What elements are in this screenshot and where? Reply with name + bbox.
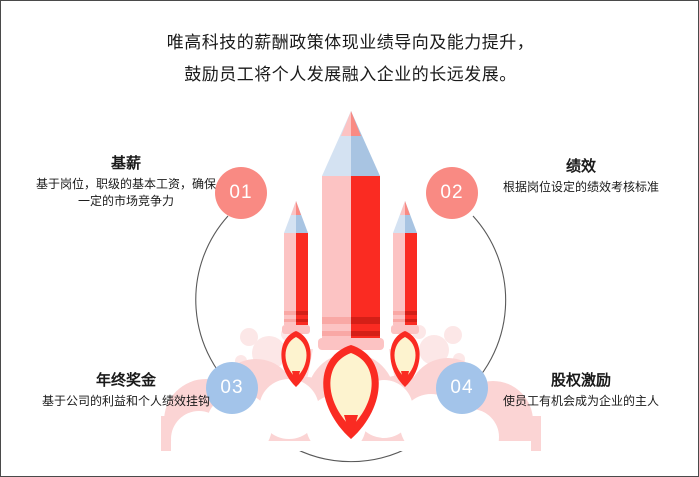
node-number-01: 01 <box>229 182 252 204</box>
label-description-01: 基于岗位，职级的基本工资，确保一定的市场竞争力 <box>31 176 221 210</box>
label-block-01: 基薪 基于岗位，职级的基本工资，确保一定的市场竞争力 <box>31 153 221 210</box>
node-number-02: 02 <box>440 182 463 204</box>
rocket-center <box>318 111 384 439</box>
label-description-02: 根据岗位设定的绩效考核标准 <box>486 179 676 196</box>
label-heading-03: 年终奖金 <box>31 370 221 392</box>
infographic-slide: 唯高科技的薪酬政策体现业绩导向及能力提升， 鼓励员工将个人发展融入企业的长远发展… <box>0 0 699 477</box>
node-circle-01[interactable]: 01 <box>215 167 267 219</box>
label-description-03: 基于公司的利益和个人绩效挂钩 <box>31 393 221 410</box>
label-block-04: 股权激励 使员工有机会成为企业的主人 <box>486 370 676 410</box>
label-heading-04: 股权激励 <box>486 370 676 392</box>
label-heading-01: 基薪 <box>31 153 221 175</box>
label-block-03: 年终奖金 基于公司的利益和个人绩效挂钩 <box>31 370 221 410</box>
label-description-04: 使员工有机会成为企业的主人 <box>486 393 676 410</box>
label-heading-02: 绩效 <box>486 156 676 178</box>
node-circle-04[interactable]: 04 <box>436 362 488 414</box>
rocket-left <box>281 201 310 387</box>
label-block-02: 绩效 根据岗位设定的绩效考核标准 <box>486 156 676 196</box>
node-circle-02[interactable]: 02 <box>426 167 478 219</box>
node-number-04: 04 <box>450 377 473 399</box>
rocket-right <box>390 201 419 387</box>
node-number-03: 03 <box>220 377 243 399</box>
